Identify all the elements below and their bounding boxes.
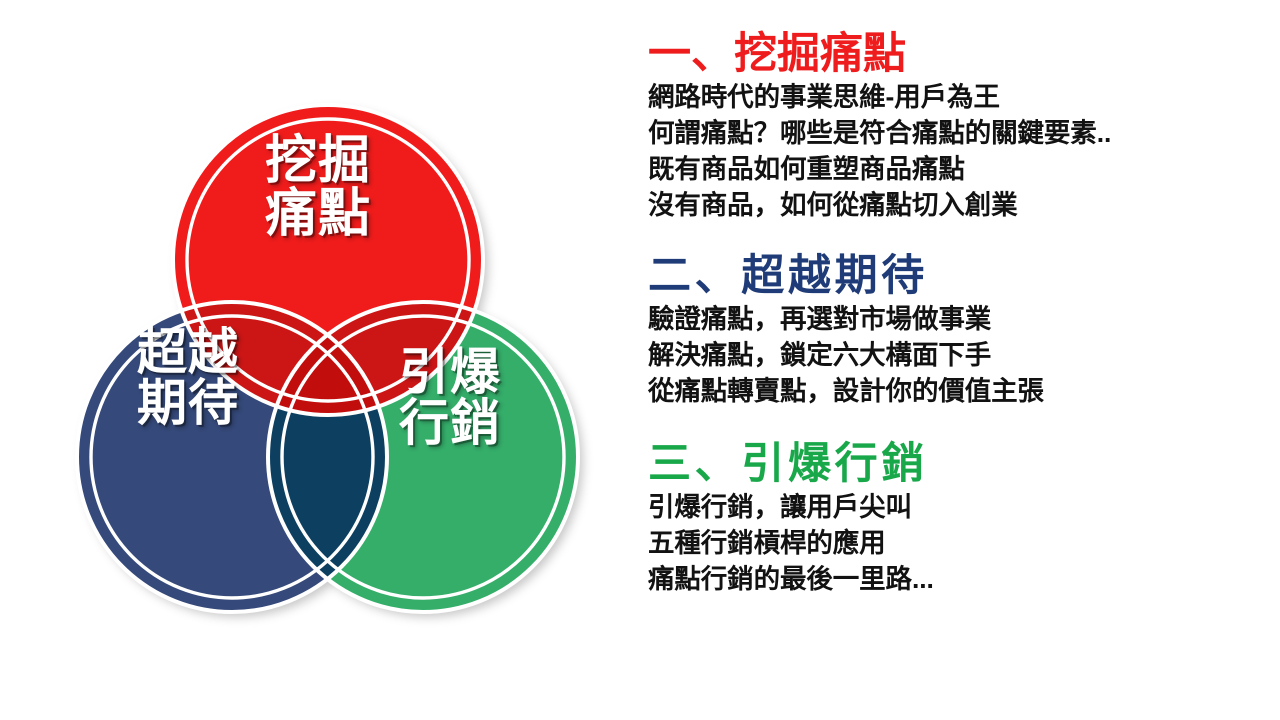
- section-2: 二、超越期待 驗證痛點，再選對市場做事業 解決痛點，鎖定六大構面下手 從痛點轉賣…: [648, 252, 1270, 410]
- section-2-line-3: 從痛點轉賣點，設計你的價值主張: [648, 374, 1270, 410]
- section-1-line-3: 既有商品如何重塑商品痛點: [648, 152, 1270, 188]
- venn-shadow-group: [77, 105, 578, 612]
- section-1-body: 網路時代的事業思維-用戶為王 何謂痛點？哪些是符合痛點的關鍵要素.. 既有商品如…: [648, 80, 1270, 224]
- section-2-line-2: 解決痛點，鎖定六大構面下手: [648, 338, 1270, 374]
- venn-svg: [40, 85, 640, 675]
- section-1-heading: 一、挖掘痛點: [648, 30, 1270, 78]
- section-1-line-4: 沒有商品，如何從痛點切入創業: [648, 188, 1270, 224]
- sections-column: 一、挖掘痛點 網路時代的事業思維-用戶為王 何謂痛點？哪些是符合痛點的關鍵要素.…: [640, 0, 1280, 720]
- section-1-line-2: 何謂痛點？哪些是符合痛點的關鍵要素..: [648, 116, 1270, 152]
- slide-canvas: 挖掘 痛點 超越 期待 引爆 行銷 一、挖掘痛點 網路時代的事業思維-用戶為王 …: [0, 0, 1280, 720]
- section-1-line-1: 網路時代的事業思維-用戶為王: [648, 80, 1270, 116]
- section-2-heading: 二、超越期待: [648, 252, 1270, 300]
- section-3-body: 引爆行銷，讓用戶尖叫 五種行銷槓桿的應用 痛點行銷的最後一里路...: [648, 490, 1270, 598]
- venn-diagram: 挖掘 痛點 超越 期待 引爆 行銷: [40, 85, 640, 675]
- section-3-line-2: 五種行銷槓桿的應用: [648, 526, 1270, 562]
- section-3-heading: 三、引爆行銷: [648, 440, 1270, 488]
- section-3-line-1: 引爆行銷，讓用戶尖叫: [648, 490, 1270, 526]
- section-3: 三、引爆行銷 引爆行銷，讓用戶尖叫 五種行銷槓桿的應用 痛點行銷的最後一里路..…: [648, 440, 1270, 598]
- section-3-line-3: 痛點行銷的最後一里路...: [648, 562, 1270, 598]
- section-2-body: 驗證痛點，再選對市場做事業 解決痛點，鎖定六大構面下手 從痛點轉賣點，設計你的價…: [648, 302, 1270, 410]
- section-1: 一、挖掘痛點 網路時代的事業思維-用戶為王 何謂痛點？哪些是符合痛點的關鍵要素.…: [648, 30, 1270, 224]
- section-2-line-1: 驗證痛點，再選對市場做事業: [648, 302, 1270, 338]
